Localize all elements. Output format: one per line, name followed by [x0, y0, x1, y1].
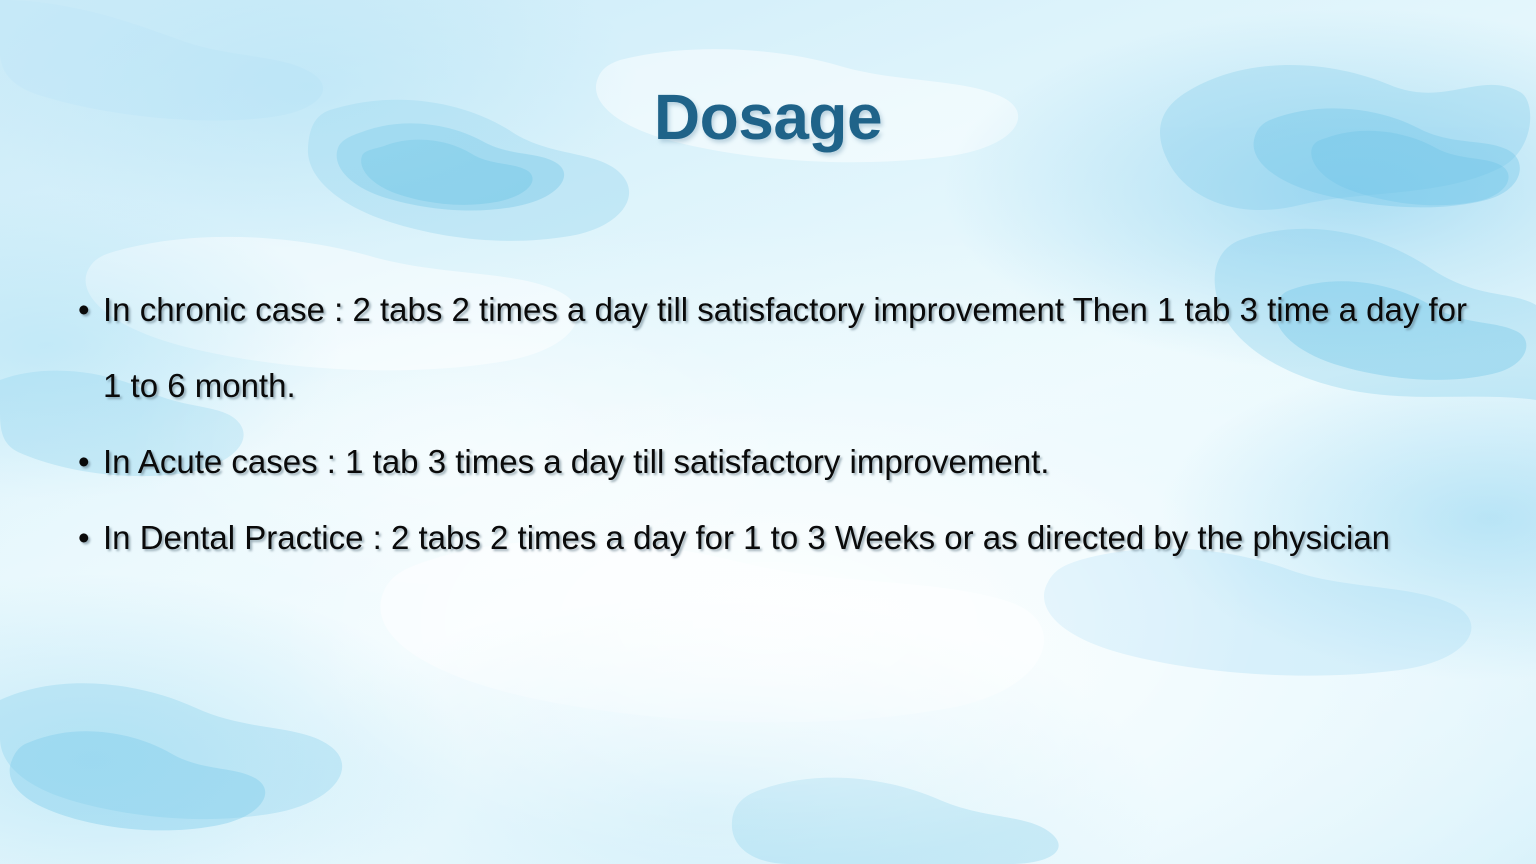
list-item-text: In Acute cases : 1 tab 3 times a day til…	[103, 443, 1049, 480]
list-item-text: In Dental Practice : 2 tabs 2 times a da…	[103, 519, 1390, 556]
dosage-bullet-list: • In chronic case : 2 tabs 2 times a day…	[70, 272, 1490, 576]
list-item: • In Acute cases : 1 tab 3 times a day t…	[70, 424, 1490, 500]
presentation-slide: Dosage • In chronic case : 2 tabs 2 time…	[0, 0, 1536, 864]
list-item: • In Dental Practice : 2 tabs 2 times a …	[70, 500, 1490, 576]
list-item-text: In chronic case : 2 tabs 2 times a day t…	[103, 291, 1467, 404]
slide-content: Dosage • In chronic case : 2 tabs 2 time…	[0, 0, 1536, 864]
list-item: • In chronic case : 2 tabs 2 times a day…	[70, 272, 1490, 424]
bullet-dot-icon: •	[78, 500, 90, 576]
bullet-dot-icon: •	[78, 424, 90, 500]
page-title: Dosage	[0, 82, 1536, 152]
bullet-dot-icon: •	[78, 272, 90, 348]
